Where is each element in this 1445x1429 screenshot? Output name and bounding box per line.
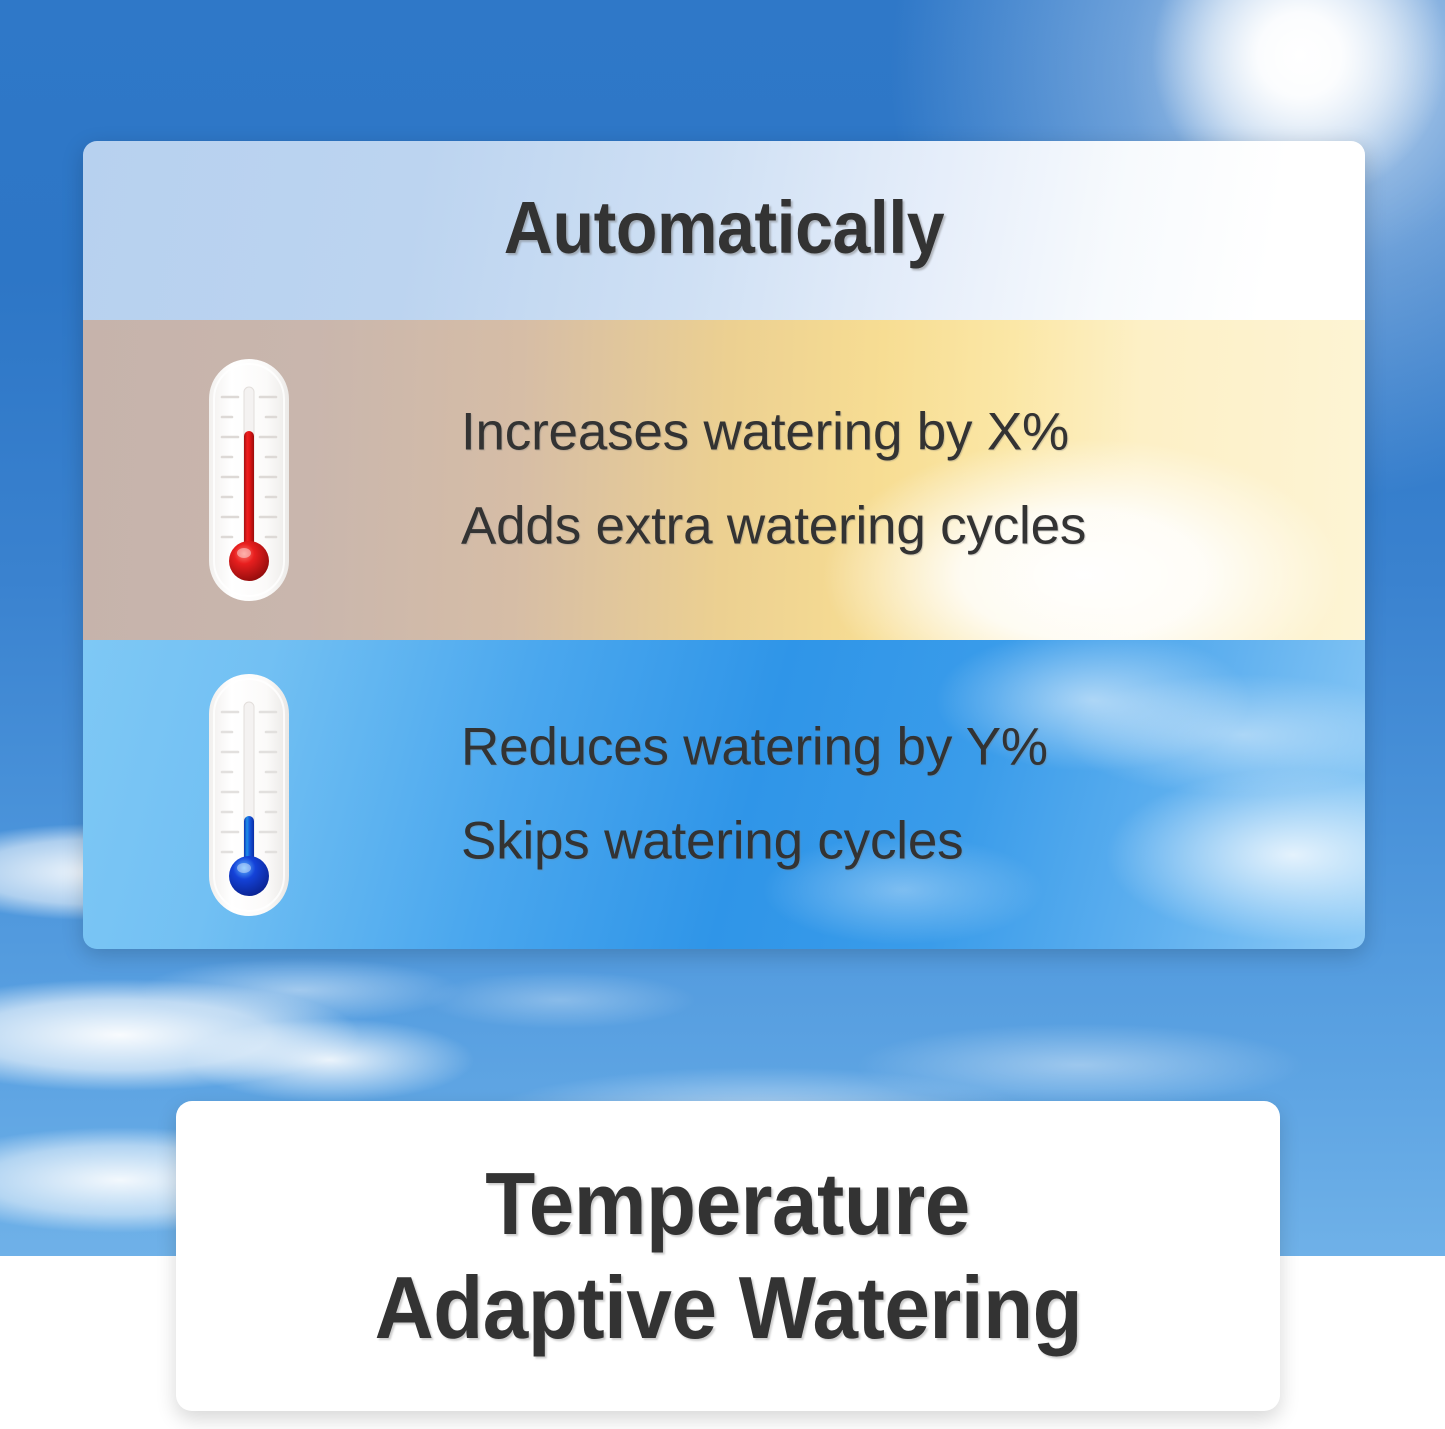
page-title: Automatically: [134, 185, 1313, 270]
feature-card: Automatically: [83, 141, 1365, 949]
card-header-band: Automatically: [83, 141, 1365, 320]
hot-weather-row: Increases watering by X% Adds extra wate…: [83, 320, 1365, 640]
hot-line-2: Adds extra watering cycles: [461, 480, 1086, 574]
infographic-stage: Automatically: [0, 0, 1445, 1429]
hot-weather-text: Increases watering by X% Adds extra wate…: [461, 386, 1086, 575]
thermometer-hot-icon: [205, 355, 293, 605]
cold-weather-text: Reduces watering by Y% Skips watering cy…: [461, 700, 1048, 889]
cold-weather-row: Reduces watering by Y% Skips watering cy…: [83, 640, 1365, 949]
hot-line-1: Increases watering by X%: [461, 386, 1086, 480]
title-card: Temperature Adaptive Watering: [176, 1101, 1280, 1411]
thermometer-cold-icon: [205, 670, 293, 920]
title-line-2: Adaptive Watering: [374, 1256, 1082, 1360]
title-line-1: Temperature: [486, 1152, 971, 1256]
cold-line-1: Reduces watering by Y%: [461, 700, 1048, 794]
cold-line-2: Skips watering cycles: [461, 795, 1048, 889]
